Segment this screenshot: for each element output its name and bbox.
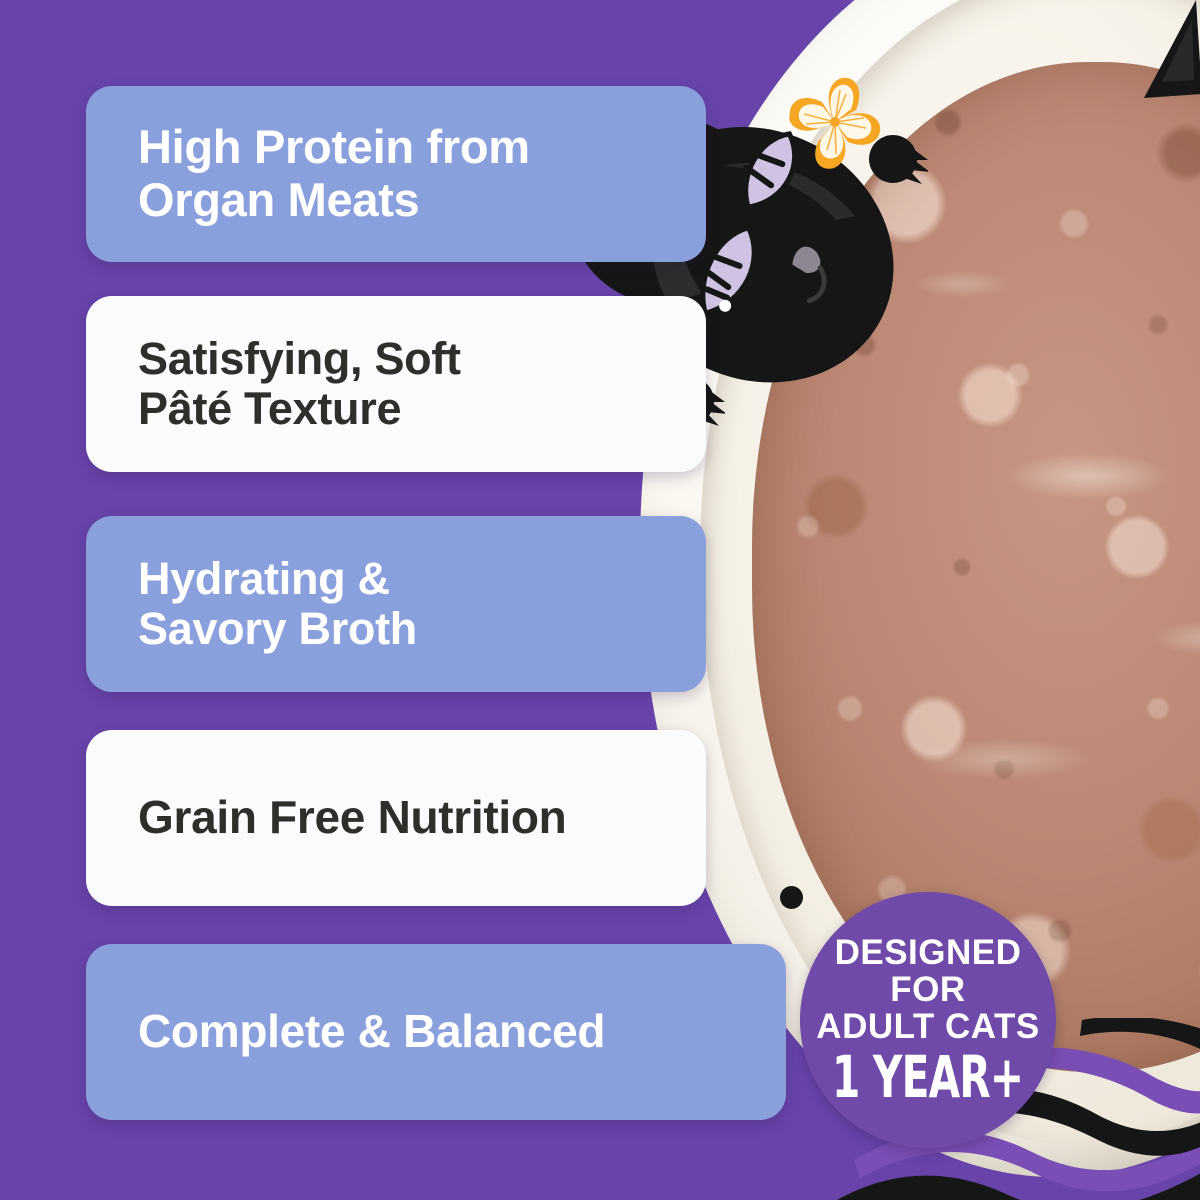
feature-label: Complete & Balanced	[138, 1006, 605, 1058]
feature-label: Satisfying, Soft Pâté Texture	[138, 334, 461, 435]
feature-banner-pate-texture[interactable]: Satisfying, Soft Pâté Texture	[86, 296, 706, 472]
feature-label: Grain Free Nutrition	[138, 792, 567, 844]
feature-banner-hydrating-broth[interactable]: Hydrating & Savory Broth	[86, 516, 706, 692]
age-badge: DESIGNED FOR ADULT CATS 1 YEAR+	[800, 892, 1056, 1148]
feature-label: Hydrating & Savory Broth	[138, 554, 417, 655]
badge-line-adult-cats: ADULT CATS	[816, 1009, 1039, 1044]
badge-line-for: FOR	[890, 972, 965, 1007]
feature-label: High Protein from Organ Meats	[138, 121, 530, 226]
badge-line-designed: DESIGNED	[835, 935, 1022, 970]
feature-banner-complete-balanced[interactable]: Complete & Balanced	[86, 944, 786, 1120]
feature-banner-high-protein[interactable]: High Protein from Organ Meats	[86, 86, 706, 262]
badge-line-age: 1 YEAR+	[832, 1048, 1023, 1106]
feature-banner-grain-free[interactable]: Grain Free Nutrition	[86, 730, 706, 906]
product-feature-graphic: High Protein from Organ Meats Satisfying…	[0, 0, 1200, 1200]
